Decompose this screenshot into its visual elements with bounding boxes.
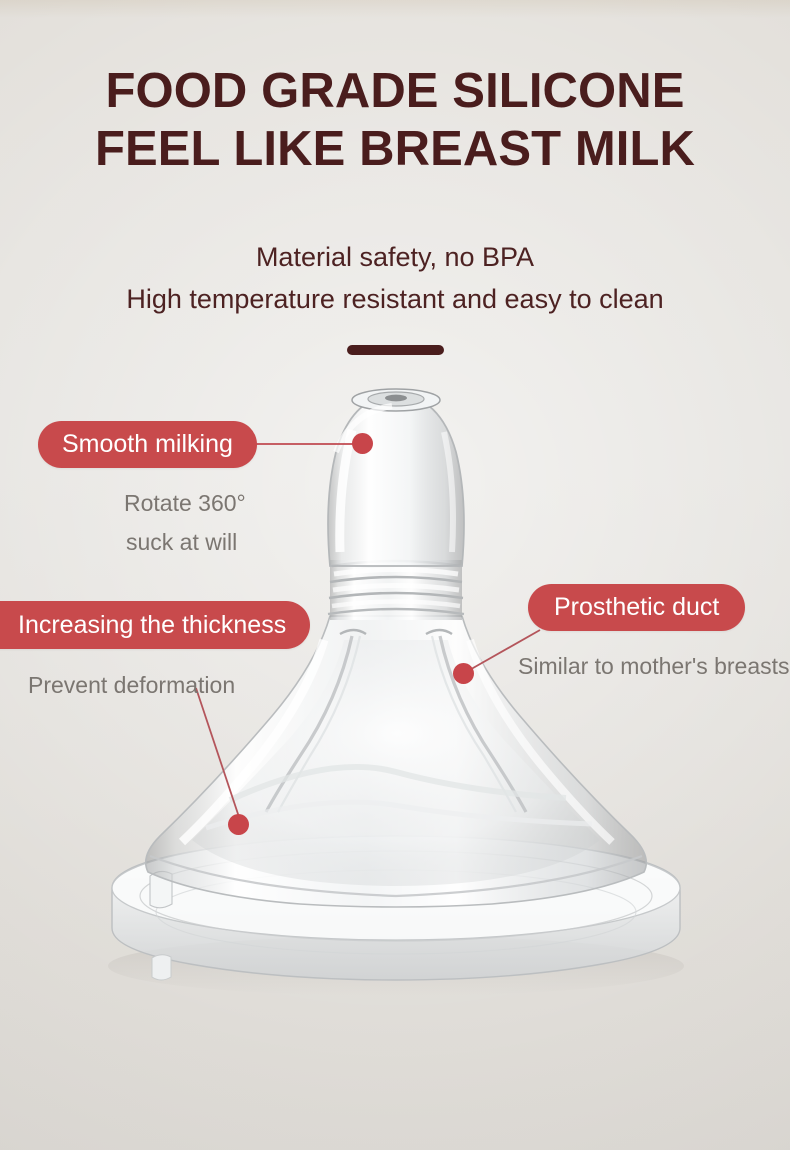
headline-line-2: FEEL LIKE BREAST MILK <box>0 120 790 178</box>
subtitle-line-2: High temperature resistant and easy to c… <box>0 278 790 320</box>
callout-caption-prevent-deformation: Prevent deformation <box>28 674 235 697</box>
callout-caption-similar-to-mothers-breasts: Similar to mother's breasts <box>518 655 790 678</box>
page-title: FOOD GRADE SILICONE FEEL LIKE BREAST MIL… <box>0 62 790 178</box>
callout-badge-smooth-milking[interactable]: Smooth milking <box>38 421 257 468</box>
infographic-canvas: FOOD GRADE SILICONE FEEL LIKE BREAST MIL… <box>0 0 790 1150</box>
marker-dot-tip[interactable] <box>352 433 373 454</box>
divider-bar <box>347 345 444 355</box>
callout-badge-label: Increasing the thickness <box>18 613 286 638</box>
marker-dot-skirt-left[interactable] <box>228 814 249 835</box>
callout-caption-suck-at-will: suck at will <box>126 531 237 554</box>
page-subtitle: Material safety, no BPA High temperature… <box>0 236 790 320</box>
callout-badge-label: Prosthetic duct <box>554 595 719 620</box>
nipple-tip <box>328 389 464 566</box>
tip-vent-hole <box>385 395 407 402</box>
headline-line-1: FOOD GRADE SILICONE <box>105 64 684 118</box>
callout-badge-prosthetic-duct[interactable]: Prosthetic duct <box>528 584 745 631</box>
nipple-neck-ribs <box>328 560 464 620</box>
callout-badge-increasing-thickness[interactable]: Increasing the thickness <box>0 601 310 649</box>
callout-caption-rotate-360: Rotate 360° <box>124 492 246 515</box>
callout-badge-label: Smooth milking <box>62 432 233 457</box>
subtitle-line-1: Material safety, no BPA <box>256 242 534 272</box>
marker-dot-duct[interactable] <box>453 663 474 684</box>
